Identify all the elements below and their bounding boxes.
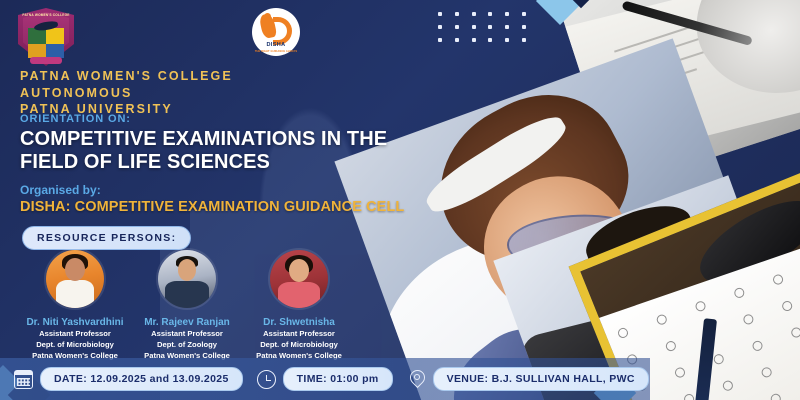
- college-crest-icon: PATNA WOMEN'S COLLEGE: [18, 8, 74, 66]
- disha-logo-icon: DISHA THE RIGHT GUIDANCE ALWAYS: [252, 8, 300, 56]
- disha-logo-tagline: THE RIGHT GUIDANCE ALWAYS: [252, 50, 300, 53]
- avatar: [268, 248, 330, 310]
- orientation-label: ORIENTATION ON:: [20, 113, 131, 125]
- date-info: DATE: 12.09.2025 and 13.09.2025: [14, 367, 243, 391]
- avatar: [44, 248, 106, 310]
- speaker-department: Dept. of Microbiology: [240, 340, 358, 351]
- venue-pill: VENUE: B.J. SULLIVAN HALL, PWC: [433, 367, 649, 391]
- institution-line-1: PATNA WOMEN'S COLLEGE: [20, 68, 233, 85]
- time-pill: TIME: 01:00 pm: [283, 367, 393, 391]
- organiser-name: DISHA: COMPETITIVE EXAMINATION GUIDANCE …: [20, 199, 404, 215]
- location-pin-icon: [407, 370, 426, 389]
- speaker-name: Dr. Niti Yashvardhini: [16, 317, 134, 328]
- page-title: COMPETITIVE EXAMINATIONS IN THE FIELD OF…: [20, 128, 445, 174]
- speaker-department: Dept. of Zoology: [128, 340, 246, 351]
- avatar: [156, 248, 218, 310]
- venue-info: VENUE: B.J. SULLIVAN HALL, PWC: [407, 367, 649, 391]
- speaker-designation: Assistant Professor: [16, 329, 134, 340]
- list-item: Dr. Shwetnisha Assistant Professor Dept.…: [240, 248, 358, 361]
- time-info: TIME: 01:00 pm: [257, 367, 393, 391]
- event-poster: PATNA WOMEN'S COLLEGE DISHA THE RIGHT GU…: [0, 0, 800, 400]
- disha-logo-name: DISHA: [252, 42, 300, 48]
- date-pill: DATE: 12.09.2025 and 13.09.2025: [40, 367, 243, 391]
- event-info-bar: DATE: 12.09.2025 and 13.09.2025 TIME: 01…: [0, 358, 650, 400]
- organised-by-label: Organised by:: [20, 183, 101, 197]
- calendar-icon: [14, 370, 33, 389]
- institution-name: PATNA WOMEN'S COLLEGE AUTONOMOUS PATNA U…: [20, 68, 233, 118]
- speaker-name: Dr. Shwetnisha: [240, 317, 358, 328]
- photo-collage: [400, 0, 800, 400]
- clock-icon: [257, 370, 276, 389]
- speaker-designation: Assistant Professor: [128, 329, 246, 340]
- speaker-designation: Assistant Professor: [240, 329, 358, 340]
- crest-caption: PATNA WOMEN'S COLLEGE: [18, 13, 74, 18]
- resource-persons-badge: RESOURCE PERSONS:: [22, 226, 191, 250]
- institution-line-2: AUTONOMOUS: [20, 85, 233, 102]
- list-item: Mr. Rajeev Ranjan Assistant Professor De…: [128, 248, 246, 361]
- speaker-name: Mr. Rajeev Ranjan: [128, 317, 246, 328]
- list-item: Dr. Niti Yashvardhini Assistant Professo…: [16, 248, 134, 361]
- poster-content: PATNA WOMEN'S COLLEGE DISHA THE RIGHT GU…: [0, 0, 460, 400]
- speaker-department: Dept. of Microbiology: [16, 340, 134, 351]
